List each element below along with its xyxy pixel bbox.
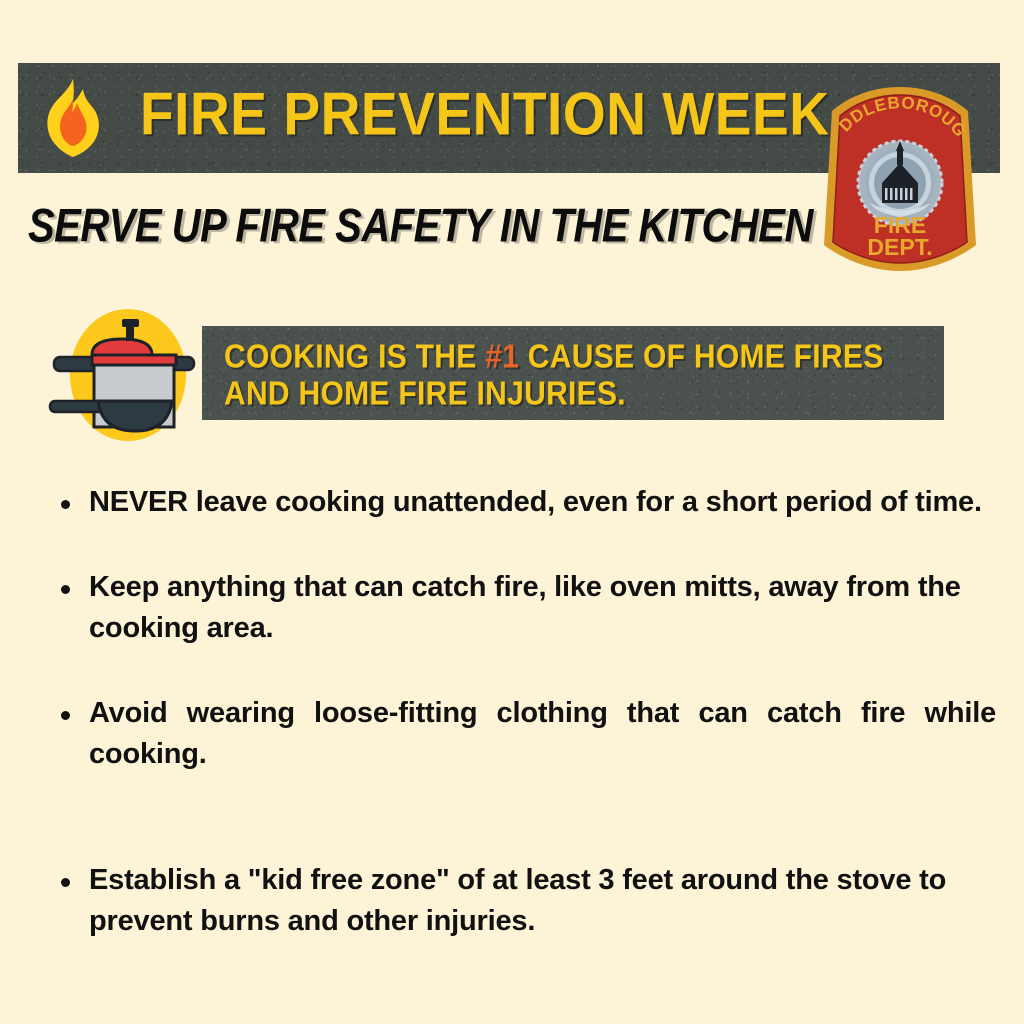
- tip-keep-flammables-away: Keep anything that can catch fire, like …: [89, 567, 996, 649]
- list-item: Establish a "kid free zone" of at least …: [56, 860, 996, 942]
- tip-never-leave-cooking: NEVER leave cooking unattended, even for…: [89, 482, 996, 523]
- callout-line-1: COOKING IS THE #1 CAUSE OF HOME FIRES: [224, 336, 944, 377]
- bullet-dot-icon: [61, 878, 70, 887]
- flame-icon: [40, 77, 106, 159]
- callout-line1-part1: COOKING IS THE: [224, 338, 485, 375]
- bullet-dot-icon: [61, 585, 70, 594]
- callout-band: COOKING IS THE #1 CAUSE OF HOME FIRES AN…: [202, 326, 944, 420]
- tip-kid-free-zone: Establish a "kid free zone" of at least …: [89, 860, 996, 942]
- callout-highlight-number: #1: [485, 338, 519, 375]
- list-item: NEVER leave cooking unattended, even for…: [56, 482, 996, 523]
- callout-line-2: AND HOME FIRE INJURIES.: [224, 373, 944, 414]
- safety-tips-list: NEVER leave cooking unattended, even for…: [56, 482, 996, 986]
- fire-prevention-poster: FIRE PREVENTION WEEK SERVE UP FIRE SAFET…: [0, 0, 1024, 1024]
- cooking-pot-and-pan-icon: [48, 305, 196, 445]
- callout-line1-part2: CAUSE OF HOME FIRES: [519, 338, 883, 375]
- page-title: FIRE PREVENTION WEEK: [140, 80, 830, 149]
- bullet-dot-icon: [61, 711, 70, 720]
- fire-department-badge-icon: MIDDLEBOROUGH: [820, 85, 980, 273]
- list-item: Keep anything that can catch fire, like …: [56, 567, 996, 649]
- badge-bottom-line2: DEPT.: [867, 234, 932, 260]
- tip-avoid-loose-clothing: Avoid wearing loose-fitting clothing tha…: [89, 693, 996, 816]
- subtitle: SERVE UP FIRE SAFETY IN THE KITCHEN: [28, 200, 813, 253]
- bullet-dot-icon: [61, 500, 70, 509]
- list-item: Avoid wearing loose-fitting clothing tha…: [56, 693, 996, 816]
